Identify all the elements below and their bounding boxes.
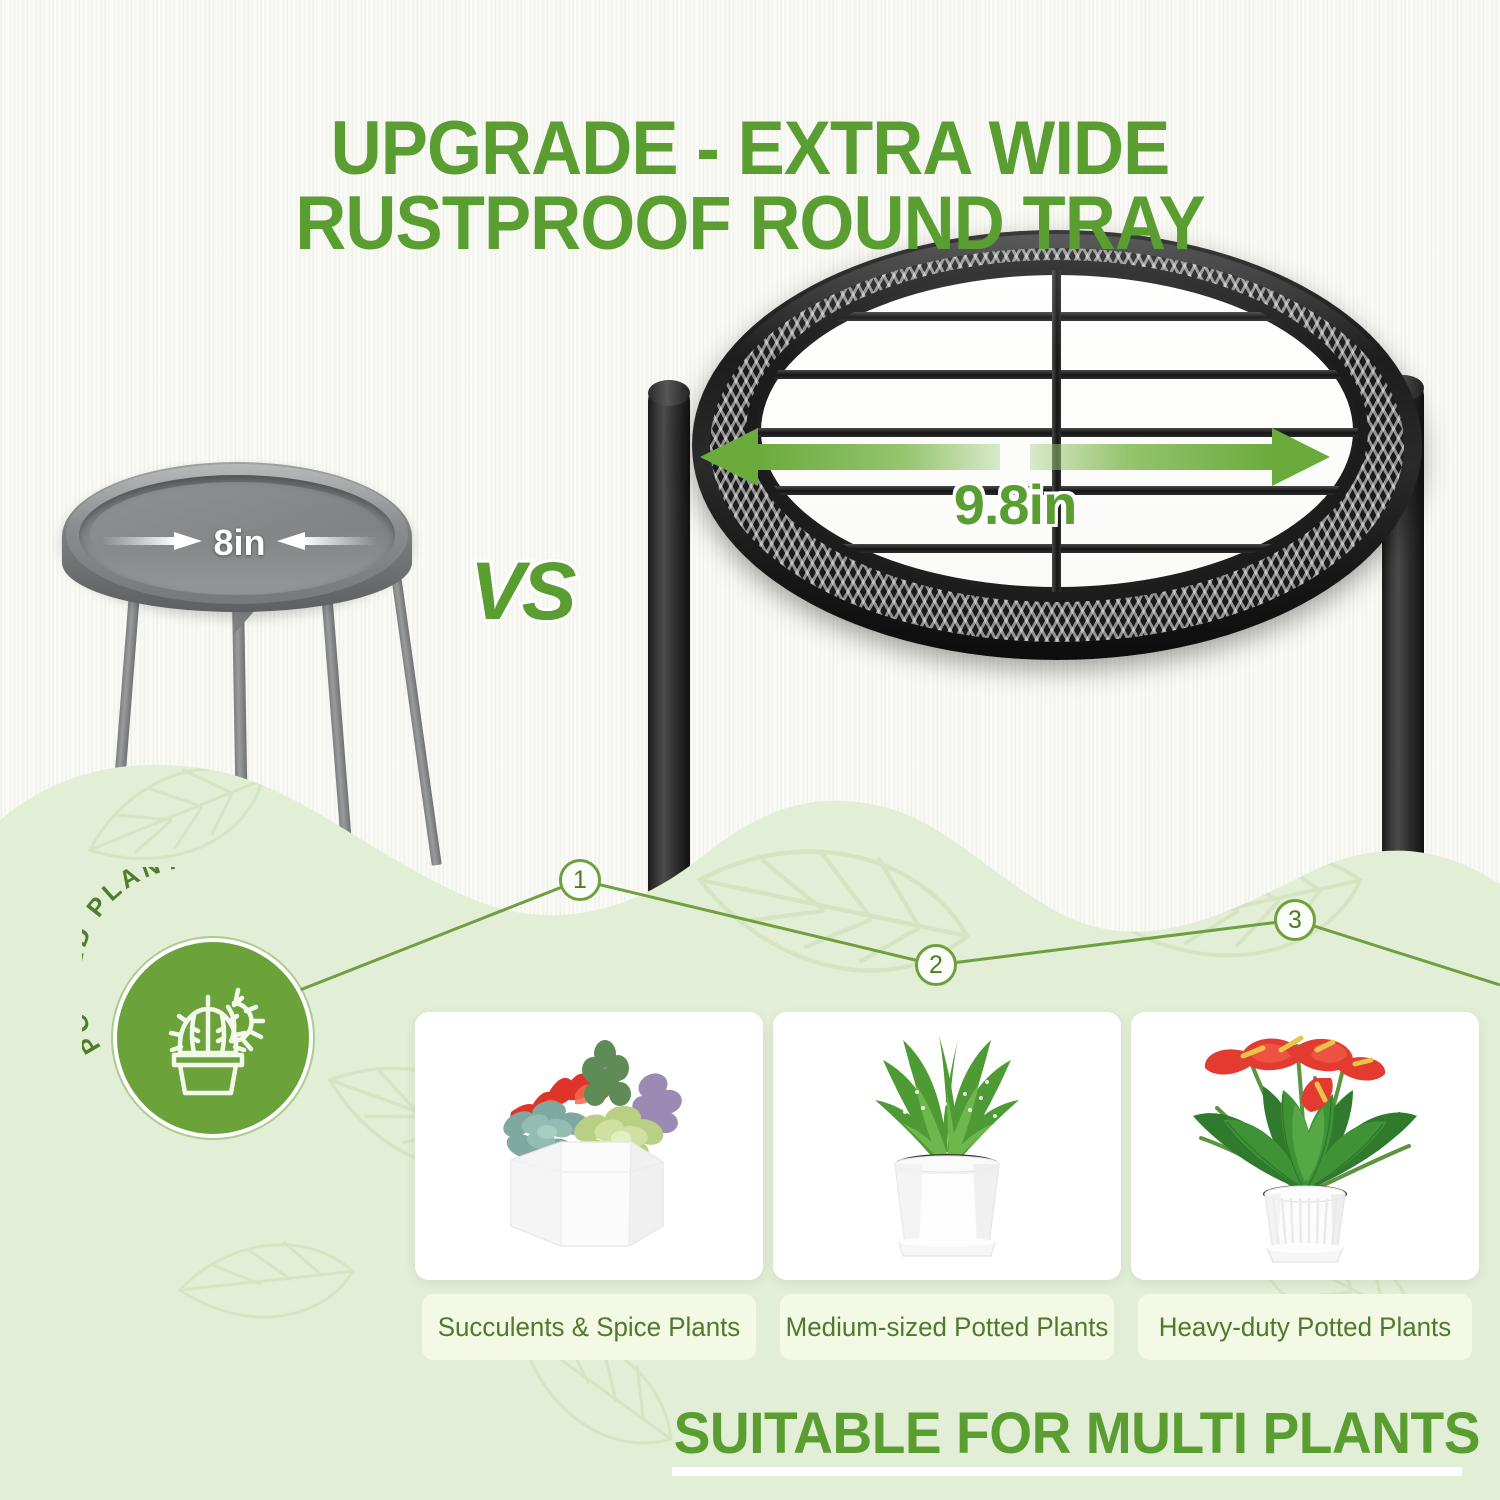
title-line-2: RUSTPROOF ROUND TRAY	[53, 187, 1448, 261]
plant-card[interactable]	[773, 1012, 1121, 1280]
connector-marker-3: 3	[1274, 899, 1316, 941]
cactus-icon	[148, 975, 278, 1105]
page-title: UPGRADE - EXTRA WIDE RUSTPROOF ROUND TRA…	[53, 38, 1448, 336]
title-line-1: UPGRADE - EXTRA WIDE	[331, 106, 1170, 191]
plant-card[interactable]	[415, 1012, 763, 1280]
plant-card-list	[415, 1012, 1480, 1282]
plant-card[interactable]	[1131, 1012, 1479, 1280]
plant-caption: Heavy-duty Potted Plants	[1138, 1294, 1472, 1360]
red-anthurium-in-ribbed-white-pot-photo	[1131, 1012, 1479, 1280]
plant-caption: Medium-sized Potted Plants	[780, 1294, 1114, 1360]
connector-marker-1: 1	[559, 859, 601, 901]
infographic-canvas: UPGRADE - EXTRA WIDE RUSTPROOF ROUND TRA…	[0, 0, 1500, 1500]
aloe-in-white-round-pot-photo	[773, 1012, 1121, 1280]
connector-marker-2: 2	[915, 944, 957, 986]
potted-plant-badge: POTTED PLANT	[100, 925, 326, 1151]
plant-caption-list: Succulents & Spice Plants Medium-sized P…	[415, 1294, 1480, 1360]
plant-caption: Succulents & Spice Plants	[422, 1294, 756, 1360]
succulents-in-white-hexagon-pot-photo	[415, 1012, 763, 1280]
versus-label: VS	[470, 545, 573, 639]
footer-headline: SUITABLE FOR MULTI PLANTS	[74, 1400, 1480, 1467]
footer-underline	[672, 1467, 1462, 1476]
